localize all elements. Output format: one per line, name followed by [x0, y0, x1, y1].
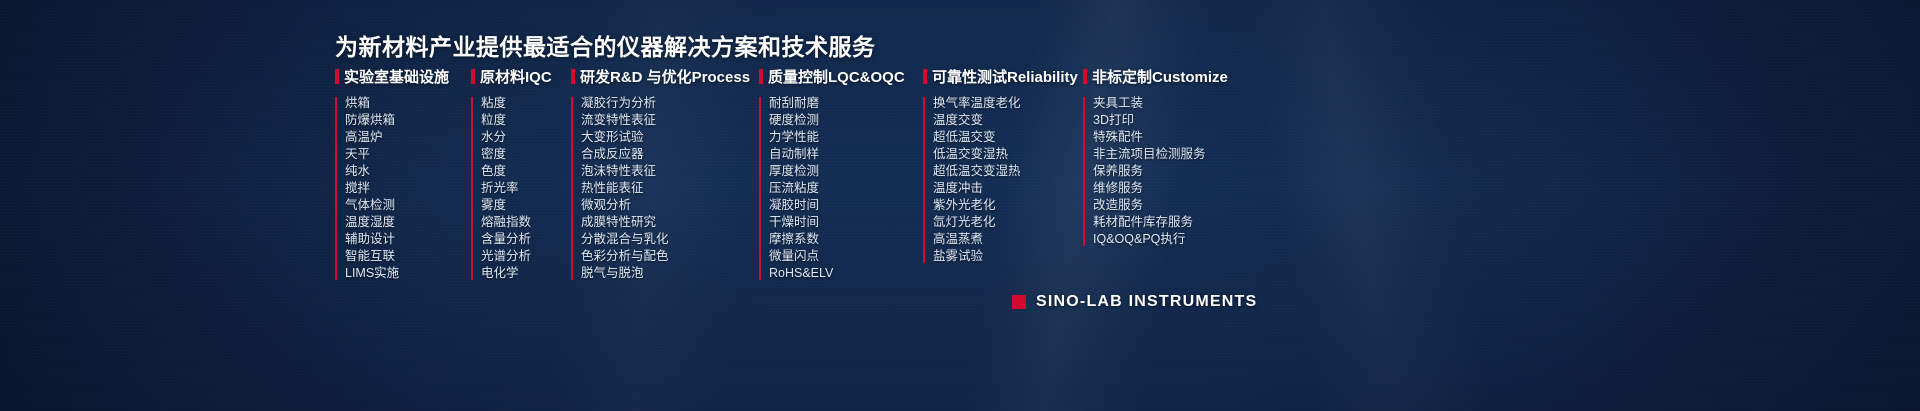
- list-item[interactable]: 电化学: [481, 265, 571, 282]
- column-item-list-4: 耐刮耐磨硬度检测力学性能自动制样厚度检测压流粘度凝胶时间干燥时间摩擦系数微量闪点…: [759, 95, 923, 282]
- list-item[interactable]: 紫外光老化: [933, 197, 1083, 214]
- list-item[interactable]: 保养服务: [1093, 163, 1243, 180]
- list-item[interactable]: 含量分析: [481, 231, 571, 248]
- service-column-5: 可靠性测试Reliability换气率温度老化温度交变超低温交变低温交变湿热超低…: [923, 66, 1083, 265]
- column-header-label: 可靠性测试Reliability: [932, 66, 1078, 87]
- banner-content: 为新材料产业提供最适合的仪器解决方案和技术服务 实验室基础设施烘箱防爆烘箱高温炉…: [0, 0, 1920, 411]
- list-item[interactable]: 熔融指数: [481, 214, 571, 231]
- header-accent-bar-icon: [1083, 69, 1087, 84]
- list-item[interactable]: 微量闪点: [769, 248, 923, 265]
- list-item[interactable]: 防爆烘箱: [345, 112, 471, 129]
- column-item-list-2: 粘度粒度水分密度色度折光率雾度熔融指数含量分析光谱分析电化学: [471, 95, 571, 282]
- brand-square-icon: [1012, 295, 1026, 309]
- list-item[interactable]: 粘度: [481, 95, 571, 112]
- list-item[interactable]: 超低温交变: [933, 129, 1083, 146]
- list-item[interactable]: 盐雾试验: [933, 248, 1083, 265]
- service-column-1: 实验室基础设施烘箱防爆烘箱高温炉天平纯水搅拌气体检测温度湿度辅助设计智能互联LI…: [335, 66, 471, 282]
- list-item[interactable]: 搅拌: [345, 180, 471, 197]
- column-item-list-3: 凝胶行为分析流变特性表征大变形试验合成反应器泡沫特性表征热性能表征微观分析成膜特…: [571, 95, 759, 282]
- list-item[interactable]: 改造服务: [1093, 197, 1243, 214]
- list-item[interactable]: 耐刮耐磨: [769, 95, 923, 112]
- list-item[interactable]: 辅助设计: [345, 231, 471, 248]
- list-item[interactable]: 脱气与脱泡: [581, 265, 759, 282]
- header-accent-bar-icon: [759, 69, 763, 84]
- list-item[interactable]: 纯水: [345, 163, 471, 180]
- list-item[interactable]: 流变特性表征: [581, 112, 759, 129]
- column-item-list-6: 夹具工装3D打印特殊配件非主流项目检测服务保养服务维修服务改造服务耗材配件库存服…: [1083, 95, 1243, 248]
- service-columns: 实验室基础设施烘箱防爆烘箱高温炉天平纯水搅拌气体检测温度湿度辅助设计智能互联LI…: [335, 66, 1243, 282]
- column-header-6[interactable]: 非标定制Customize: [1083, 66, 1243, 87]
- service-column-6: 非标定制Customize夹具工装3D打印特殊配件非主流项目检测服务保养服务维修…: [1083, 66, 1243, 248]
- list-item[interactable]: 光谱分析: [481, 248, 571, 265]
- brand-logo: SINO-LAB INSTRUMENTS: [1012, 293, 1257, 311]
- list-item[interactable]: 温度湿度: [345, 214, 471, 231]
- list-item[interactable]: 3D打印: [1093, 112, 1243, 129]
- list-item[interactable]: 超低温交变湿热: [933, 163, 1083, 180]
- list-item[interactable]: 合成反应器: [581, 146, 759, 163]
- list-item[interactable]: 高温炉: [345, 129, 471, 146]
- header-accent-bar-icon: [571, 69, 575, 84]
- list-item[interactable]: 微观分析: [581, 197, 759, 214]
- list-item[interactable]: 粒度: [481, 112, 571, 129]
- list-item[interactable]: 成膜特性研究: [581, 214, 759, 231]
- list-item[interactable]: 雾度: [481, 197, 571, 214]
- list-item[interactable]: 硬度检测: [769, 112, 923, 129]
- list-item[interactable]: 氙灯光老化: [933, 214, 1083, 231]
- list-item[interactable]: 温度冲击: [933, 180, 1083, 197]
- column-header-label: 非标定制Customize: [1092, 66, 1228, 87]
- column-header-label: 原材料IQC: [480, 66, 552, 87]
- list-item[interactable]: 特殊配件: [1093, 129, 1243, 146]
- brand-name: SINO-LAB INSTRUMENTS: [1036, 293, 1257, 311]
- list-item[interactable]: 厚度检测: [769, 163, 923, 180]
- list-item[interactable]: IQ&OQ&PQ执行: [1093, 231, 1243, 248]
- header-accent-bar-icon: [471, 69, 475, 84]
- list-item[interactable]: 密度: [481, 146, 571, 163]
- header-accent-bar-icon: [923, 69, 927, 84]
- list-item[interactable]: 气体检测: [345, 197, 471, 214]
- list-item[interactable]: 高温蒸煮: [933, 231, 1083, 248]
- list-item[interactable]: 干燥时间: [769, 214, 923, 231]
- list-item[interactable]: 天平: [345, 146, 471, 163]
- list-item[interactable]: 力学性能: [769, 129, 923, 146]
- list-item[interactable]: 水分: [481, 129, 571, 146]
- list-item[interactable]: 智能互联: [345, 248, 471, 265]
- column-item-list-5: 换气率温度老化温度交变超低温交变低温交变湿热超低温交变湿热温度冲击紫外光老化氙灯…: [923, 95, 1083, 265]
- list-item[interactable]: RoHS&ELV: [769, 265, 923, 282]
- list-item[interactable]: 烘箱: [345, 95, 471, 112]
- column-header-label: 研发R&D 与优化Process: [580, 66, 750, 87]
- service-column-3: 研发R&D 与优化Process凝胶行为分析流变特性表征大变形试验合成反应器泡沫…: [571, 66, 759, 282]
- list-item[interactable]: 泡沫特性表征: [581, 163, 759, 180]
- service-column-4: 质量控制LQC&OQC耐刮耐磨硬度检测力学性能自动制样厚度检测压流粘度凝胶时间干…: [759, 66, 923, 282]
- header-accent-bar-icon: [335, 69, 339, 84]
- page-title: 为新材料产业提供最适合的仪器解决方案和技术服务: [335, 28, 876, 62]
- list-item[interactable]: 温度交变: [933, 112, 1083, 129]
- list-item[interactable]: 非主流项目检测服务: [1093, 146, 1243, 163]
- list-item[interactable]: 凝胶行为分析: [581, 95, 759, 112]
- list-item[interactable]: LIMS实施: [345, 265, 471, 282]
- column-header-2[interactable]: 原材料IQC: [471, 66, 571, 87]
- column-header-5[interactable]: 可靠性测试Reliability: [923, 66, 1083, 87]
- list-item[interactable]: 色度: [481, 163, 571, 180]
- list-item[interactable]: 色彩分析与配色: [581, 248, 759, 265]
- list-item[interactable]: 热性能表征: [581, 180, 759, 197]
- service-column-2: 原材料IQC粘度粒度水分密度色度折光率雾度熔融指数含量分析光谱分析电化学: [471, 66, 571, 282]
- list-item[interactable]: 耗材配件库存服务: [1093, 214, 1243, 231]
- list-item[interactable]: 分散混合与乳化: [581, 231, 759, 248]
- column-header-label: 实验室基础设施: [344, 66, 449, 87]
- list-item[interactable]: 低温交变湿热: [933, 146, 1083, 163]
- column-header-3[interactable]: 研发R&D 与优化Process: [571, 66, 759, 87]
- list-item[interactable]: 维修服务: [1093, 180, 1243, 197]
- column-header-label: 质量控制LQC&OQC: [768, 66, 905, 87]
- column-header-1[interactable]: 实验室基础设施: [335, 66, 471, 87]
- list-item[interactable]: 摩擦系数: [769, 231, 923, 248]
- column-item-list-1: 烘箱防爆烘箱高温炉天平纯水搅拌气体检测温度湿度辅助设计智能互联LIMS实施: [335, 95, 471, 282]
- list-item[interactable]: 折光率: [481, 180, 571, 197]
- list-item[interactable]: 凝胶时间: [769, 197, 923, 214]
- list-item[interactable]: 自动制样: [769, 146, 923, 163]
- list-item[interactable]: 夹具工装: [1093, 95, 1243, 112]
- list-item[interactable]: 大变形试验: [581, 129, 759, 146]
- column-header-4[interactable]: 质量控制LQC&OQC: [759, 66, 923, 87]
- list-item[interactable]: 换气率温度老化: [933, 95, 1083, 112]
- list-item[interactable]: 压流粘度: [769, 180, 923, 197]
